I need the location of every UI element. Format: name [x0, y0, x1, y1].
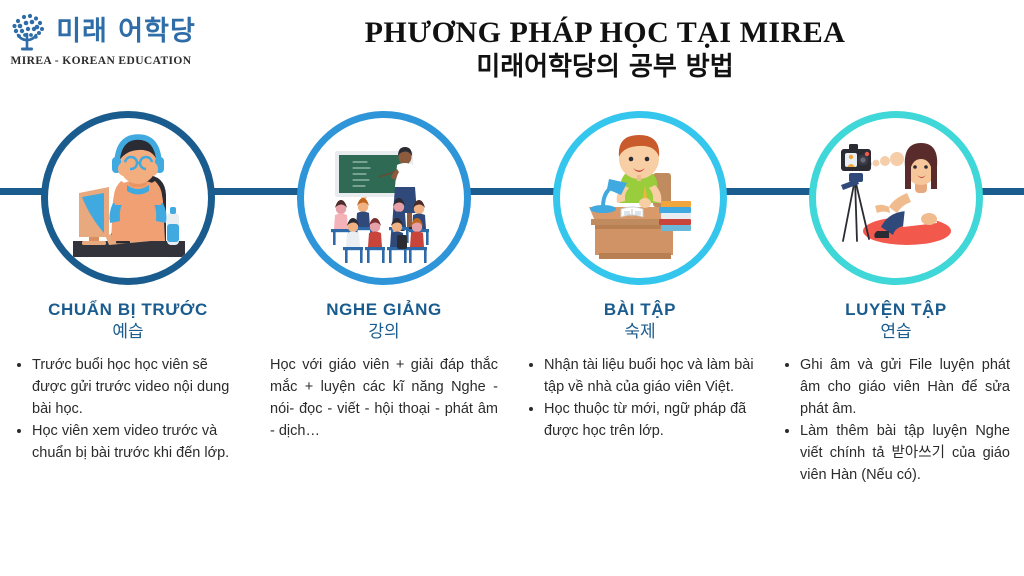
- content-columns: CHUẨN BỊ TRƯỚC 예습 Trước buổi học học viê…: [0, 300, 1024, 576]
- column-4: LUYỆN TẬP 연습 Ghi âm và gửi File luyện ph…: [768, 300, 1024, 576]
- column-3: BÀI TẬP 숙제 Nhận tài liệu buổi học và làm…: [512, 300, 768, 576]
- list-item: Làm thêm bài tập luyện Nghe viết chính t…: [800, 420, 1010, 486]
- timeline-nodes: [0, 100, 1024, 295]
- column-1-heading: CHUẨN BỊ TRƯỚC: [14, 300, 242, 320]
- page-title-korean: 미래어학당의 공부 방법: [196, 53, 1014, 83]
- logo-row: 미래 어학당: [6, 10, 196, 52]
- column-1-list: Trước buổi học học viên sẽ được gửi trướ…: [14, 354, 242, 464]
- logo-subtitle: MIREA - KOREAN EDUCATION: [11, 55, 192, 67]
- list-item: Học thuộc từ mới, ngữ pháp đã được học t…: [544, 398, 754, 442]
- timeline: [0, 100, 1024, 295]
- column-1: CHUẨN BỊ TRƯỚC 예습 Trước buổi học học viê…: [0, 300, 256, 576]
- tree-icon: [6, 10, 50, 52]
- column-2-heading: NGHE GIẢNG: [270, 300, 498, 320]
- page-title-vietnamese: PHƯƠNG PHÁP HỌC TẠI MIREA: [196, 16, 1014, 50]
- timeline-node-2[interactable]: [297, 111, 471, 285]
- paragraph: Học với giáo viên + giải đáp thắc mắc + …: [270, 354, 498, 442]
- classroom-teacher-chalkboard-icon: [309, 123, 459, 273]
- column-3-heading: BÀI TẬP: [526, 300, 754, 320]
- column-1-body: Trước buổi học học viên sẽ được gửi trướ…: [14, 354, 242, 464]
- woman-recording-video-with-tripod-camera-icon: [821, 123, 971, 273]
- column-2-heading-korean: 강의: [270, 322, 498, 342]
- list-item: Trước buổi học học viên sẽ được gửi trướ…: [32, 354, 242, 420]
- list-item: Học viên xem video trước và chuẩn bị bài…: [32, 420, 242, 464]
- column-3-heading-korean: 숙제: [526, 322, 754, 342]
- column-1-heading-korean: 예습: [14, 322, 242, 342]
- boy-doing-homework-at-desk-icon: [565, 123, 715, 273]
- column-2-body: Học với giáo viên + giải đáp thắc mắc + …: [270, 354, 498, 442]
- student-at-computer-with-headphones-icon: [53, 123, 203, 273]
- column-3-body: Nhận tài liệu buổi học và làm bài tập về…: [526, 354, 754, 442]
- timeline-node-3[interactable]: [553, 111, 727, 285]
- column-2: NGHE GIẢNG 강의 Học với giáo viên + giải đ…: [256, 300, 512, 576]
- column-4-body: Ghi âm và gửi File luyện phát âm cho giá…: [782, 354, 1010, 486]
- column-3-list: Nhận tài liệu buổi học và làm bài tập về…: [526, 354, 754, 442]
- title-block: PHƯƠNG PHÁP HỌC TẠI MIREA 미래어학당의 공부 방법: [196, 16, 1014, 82]
- brand-logo: 미래 어학당 MIREA - KOREAN EDUCATION: [8, 10, 194, 67]
- column-4-list: Ghi âm và gửi File luyện phát âm cho giá…: [782, 354, 1010, 486]
- list-item: Ghi âm và gửi File luyện phát âm cho giá…: [800, 354, 1010, 420]
- infographic-page: 미래 어학당 MIREA - KOREAN EDUCATION PHƯƠNG P…: [0, 0, 1024, 576]
- timeline-node-1[interactable]: [41, 111, 215, 285]
- column-4-heading: LUYỆN TẬP: [782, 300, 1010, 320]
- column-4-heading-korean: 연습: [782, 322, 1010, 342]
- list-item: Nhận tài liệu buổi học và làm bài tập về…: [544, 354, 754, 398]
- header: 미래 어학당 MIREA - KOREAN EDUCATION PHƯƠNG P…: [0, 0, 1024, 100]
- logo-korean-text: 미래 어학당: [56, 18, 196, 45]
- timeline-node-4[interactable]: [809, 111, 983, 285]
